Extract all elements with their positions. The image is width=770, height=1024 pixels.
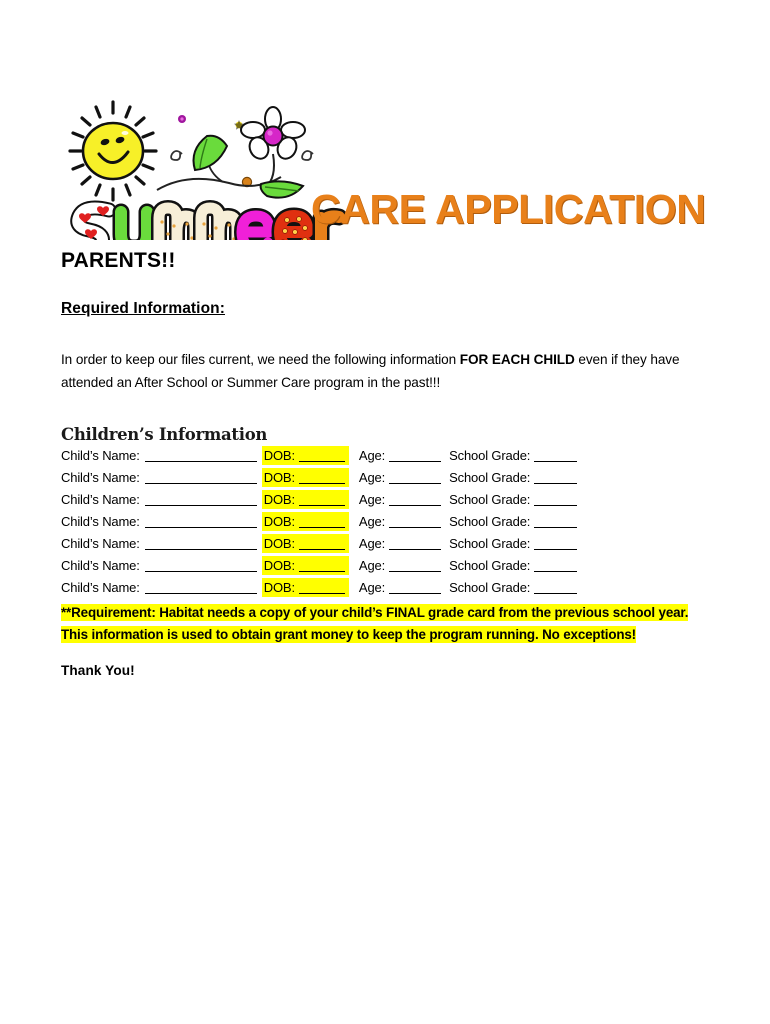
child-name-input[interactable] bbox=[145, 448, 257, 462]
school-grade-input[interactable] bbox=[534, 492, 577, 506]
intro-text-part1: In order to keep our files current, we n… bbox=[61, 352, 460, 367]
child-name-label: Child’s Name: bbox=[61, 533, 140, 555]
school-grade-label: School Grade: bbox=[449, 577, 530, 599]
age-label: Age: bbox=[359, 533, 385, 555]
children-information-heading: Children’s Information bbox=[61, 425, 267, 444]
child-name-label: Child’s Name: bbox=[61, 555, 140, 577]
daisy-flower-icon bbox=[241, 107, 305, 162]
age-input[interactable] bbox=[389, 470, 441, 484]
school-grade-label: School Grade: bbox=[449, 511, 530, 533]
age-label: Age: bbox=[359, 555, 385, 577]
dob-field-group: DOB: bbox=[262, 578, 349, 597]
dob-label: DOB: bbox=[264, 489, 295, 511]
dob-field-group: DOB: bbox=[262, 556, 349, 575]
child-name-input[interactable] bbox=[145, 514, 257, 528]
age-label: Age: bbox=[359, 489, 385, 511]
dob-field-group: DOB: bbox=[262, 468, 349, 487]
dob-field-group: DOB: bbox=[262, 446, 349, 465]
age-input[interactable] bbox=[389, 448, 441, 462]
school-grade-input[interactable] bbox=[534, 580, 577, 594]
dob-label: DOB: bbox=[264, 555, 295, 577]
age-label: Age: bbox=[359, 577, 385, 599]
dob-label: DOB: bbox=[264, 445, 295, 467]
age-input[interactable] bbox=[389, 536, 441, 550]
letter-s bbox=[73, 206, 109, 240]
child-row: Child’s Name:DOB:Age:School Grade: bbox=[61, 555, 531, 577]
dob-input[interactable] bbox=[299, 536, 345, 550]
dob-input[interactable] bbox=[299, 448, 345, 462]
dob-label: DOB: bbox=[264, 533, 295, 555]
sun-face-icon bbox=[83, 123, 143, 179]
letter-m-2 bbox=[201, 208, 237, 240]
school-grade-input[interactable] bbox=[534, 470, 577, 484]
age-label: Age: bbox=[359, 467, 385, 489]
intro-text-bold: FOR EACH CHILD bbox=[460, 352, 575, 367]
dob-field-group: DOB: bbox=[262, 534, 349, 553]
leaf-icon bbox=[194, 136, 228, 170]
care-application-title: CARE APPLICATION bbox=[311, 186, 706, 233]
school-grade-label: School Grade: bbox=[449, 555, 530, 577]
parents-heading: PARENTS!! bbox=[61, 249, 176, 273]
school-grade-label: School Grade: bbox=[449, 467, 530, 489]
requirement-line-2: This information is used to obtain grant… bbox=[61, 626, 636, 643]
child-name-label: Child’s Name: bbox=[61, 577, 140, 599]
dob-label: DOB: bbox=[264, 467, 295, 489]
dob-input[interactable] bbox=[299, 514, 345, 528]
child-name-label: Child’s Name: bbox=[61, 511, 140, 533]
dob-field-group: DOB: bbox=[262, 512, 349, 531]
age-input[interactable] bbox=[389, 492, 441, 506]
school-grade-input[interactable] bbox=[534, 536, 577, 550]
dob-input[interactable] bbox=[299, 558, 345, 572]
child-row: Child’s Name:DOB:Age:School Grade: bbox=[61, 445, 531, 467]
child-name-input[interactable] bbox=[145, 492, 257, 506]
school-grade-label: School Grade: bbox=[449, 445, 530, 467]
swirl-icon bbox=[302, 151, 313, 160]
dob-input[interactable] bbox=[299, 492, 345, 506]
child-row: Child’s Name:DOB:Age:School Grade: bbox=[61, 577, 531, 599]
letter-m-1 bbox=[159, 208, 195, 240]
thank-you-text: Thank You! bbox=[61, 663, 135, 678]
requirement-notice: **Requirement: Habitat needs a copy of y… bbox=[61, 602, 721, 646]
child-name-input[interactable] bbox=[145, 558, 257, 572]
swirl-icon bbox=[171, 151, 182, 160]
dob-label: DOB: bbox=[264, 511, 295, 533]
school-grade-input[interactable] bbox=[534, 448, 577, 462]
child-name-input[interactable] bbox=[145, 536, 257, 550]
age-input[interactable] bbox=[389, 580, 441, 594]
dob-input[interactable] bbox=[299, 470, 345, 484]
letter-e-magenta bbox=[242, 216, 269, 240]
age-input[interactable] bbox=[389, 558, 441, 572]
school-grade-label: School Grade: bbox=[449, 489, 530, 511]
child-row: Child’s Name:DOB:Age:School Grade: bbox=[61, 511, 531, 533]
age-label: Age: bbox=[359, 445, 385, 467]
school-grade-input[interactable] bbox=[534, 558, 577, 572]
flower-center-icon bbox=[264, 127, 283, 146]
child-name-input[interactable] bbox=[145, 580, 257, 594]
dob-input[interactable] bbox=[299, 580, 345, 594]
letter-e-red bbox=[280, 216, 307, 240]
school-grade-input[interactable] bbox=[534, 514, 577, 528]
required-information-heading: Required Information: bbox=[61, 300, 225, 318]
children-rows-list: Child’s Name:DOB:Age:School Grade:Child’… bbox=[61, 445, 531, 599]
dob-field-group: DOB: bbox=[262, 490, 349, 509]
child-name-label: Child’s Name: bbox=[61, 489, 140, 511]
document-page: CARE APPLICATION PARENTS!! Required Info… bbox=[0, 0, 770, 1024]
requirement-line-1: **Requirement: Habitat needs a copy of y… bbox=[61, 604, 688, 621]
child-row: Child’s Name:DOB:Age:School Grade: bbox=[61, 489, 531, 511]
letter-u bbox=[121, 212, 147, 240]
child-row: Child’s Name:DOB:Age:School Grade: bbox=[61, 533, 531, 555]
child-name-label: Child’s Name: bbox=[61, 445, 140, 467]
intro-paragraph: In order to keep our files current, we n… bbox=[61, 348, 706, 394]
child-name-label: Child’s Name: bbox=[61, 467, 140, 489]
age-label: Age: bbox=[359, 511, 385, 533]
school-grade-label: School Grade: bbox=[449, 533, 530, 555]
child-row: Child’s Name:DOB:Age:School Grade: bbox=[61, 467, 531, 489]
dob-label: DOB: bbox=[264, 577, 295, 599]
child-name-input[interactable] bbox=[145, 470, 257, 484]
age-input[interactable] bbox=[389, 514, 441, 528]
